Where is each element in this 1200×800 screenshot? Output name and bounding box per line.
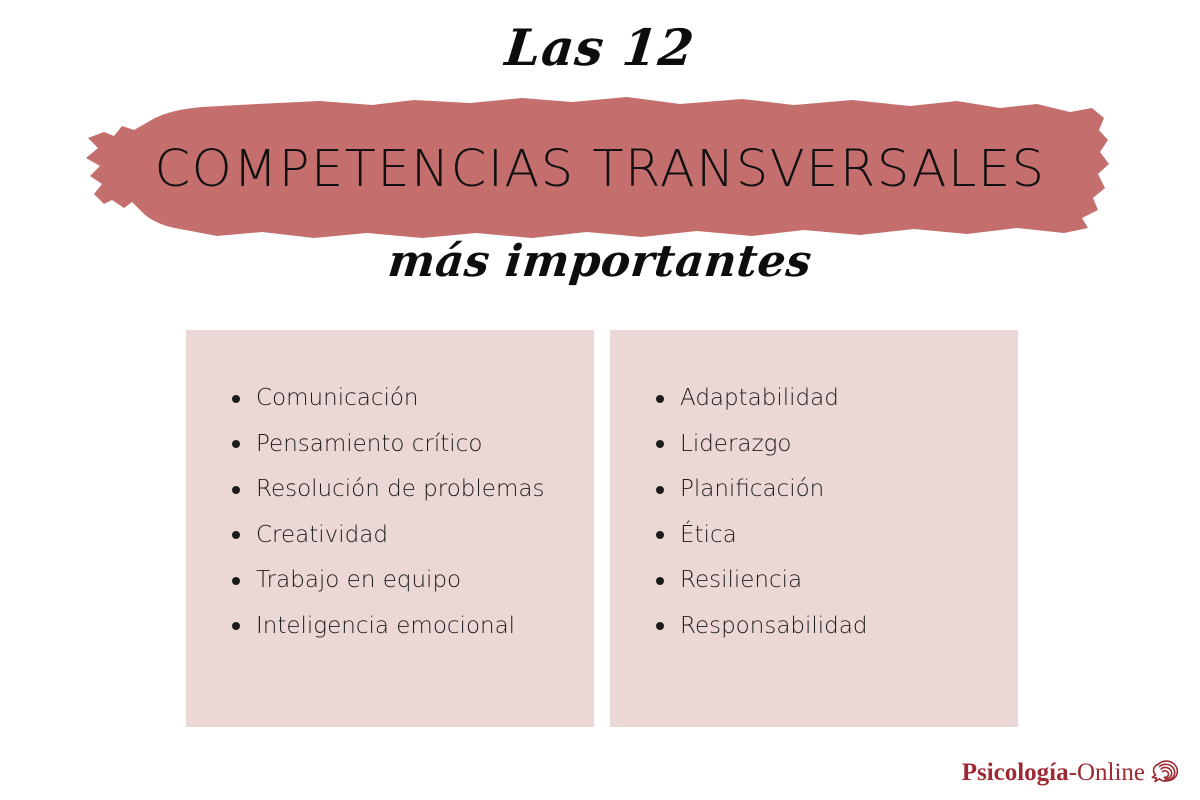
bullet-icon	[232, 440, 240, 448]
brain-icon	[1148, 758, 1182, 788]
list-item: Planificación	[656, 467, 1018, 513]
list-item: Inteligencia emocional	[232, 604, 594, 650]
bullet-icon	[656, 486, 664, 494]
list-item-label: Comunicación	[256, 385, 419, 411]
brand-suffix: -Online	[1069, 759, 1145, 786]
bullet-icon	[656, 622, 664, 630]
bullet-icon	[656, 577, 664, 585]
list-item-label: Liderazgo	[680, 431, 791, 457]
bullet-icon	[232, 531, 240, 539]
list-item-label: Ética	[680, 522, 737, 548]
list-item: Liderazgo	[656, 422, 1018, 468]
brand-name: Psicología	[962, 759, 1069, 786]
bullet-icon	[656, 395, 664, 403]
subtitle: más importantes	[0, 236, 1200, 287]
list-item: Pensamiento crítico	[232, 422, 594, 468]
bullet-icon	[232, 622, 240, 630]
list-item-label: Trabajo en equipo	[256, 567, 461, 593]
infographic-page: Las 12 COMPETENCIAS TRANSVERSALES más im…	[0, 0, 1200, 800]
banner-title: COMPETENCIAS TRANSVERSALES	[52, 92, 1148, 242]
panel-right: Adaptabilidad Liderazgo Planificación Ét…	[610, 330, 1018, 727]
list-item: Trabajo en equipo	[232, 558, 594, 604]
eyebrow-title: Las 12	[0, 18, 1200, 77]
list-item-label: Inteligencia emocional	[256, 613, 515, 639]
banner: COMPETENCIAS TRANSVERSALES	[52, 92, 1148, 242]
bullet-icon	[656, 440, 664, 448]
list-item-label: Pensamiento crítico	[256, 431, 482, 457]
list-item-label: Creatividad	[256, 522, 388, 548]
brand-logo-text: Psicología-Online	[962, 759, 1145, 787]
list-item: Resolución de problemas	[232, 467, 594, 513]
bullet-icon	[232, 577, 240, 585]
brand-logo[interactable]: Psicología-Online	[962, 758, 1182, 788]
list-item: Comunicación	[232, 376, 594, 422]
list-item: Ética	[656, 513, 1018, 559]
list-item-label: Adaptabilidad	[680, 385, 839, 411]
bullet-icon	[232, 486, 240, 494]
list-item: Creatividad	[232, 513, 594, 559]
list-item-label: Planificación	[680, 476, 824, 502]
list-item: Resiliencia	[656, 558, 1018, 604]
bullet-icon	[232, 395, 240, 403]
competency-panels: Comunicación Pensamiento crítico Resoluc…	[186, 330, 1018, 727]
competency-list-right: Adaptabilidad Liderazgo Planificación Ét…	[656, 376, 1018, 649]
bullet-icon	[656, 531, 664, 539]
competency-list-left: Comunicación Pensamiento crítico Resoluc…	[232, 376, 594, 649]
list-item-label: Responsabilidad	[680, 613, 867, 639]
panel-left: Comunicación Pensamiento crítico Resoluc…	[186, 330, 594, 727]
list-item-label: Resolución de problemas	[256, 476, 544, 502]
list-item: Adaptabilidad	[656, 376, 1018, 422]
list-item-label: Resiliencia	[680, 567, 802, 593]
list-item: Responsabilidad	[656, 604, 1018, 650]
